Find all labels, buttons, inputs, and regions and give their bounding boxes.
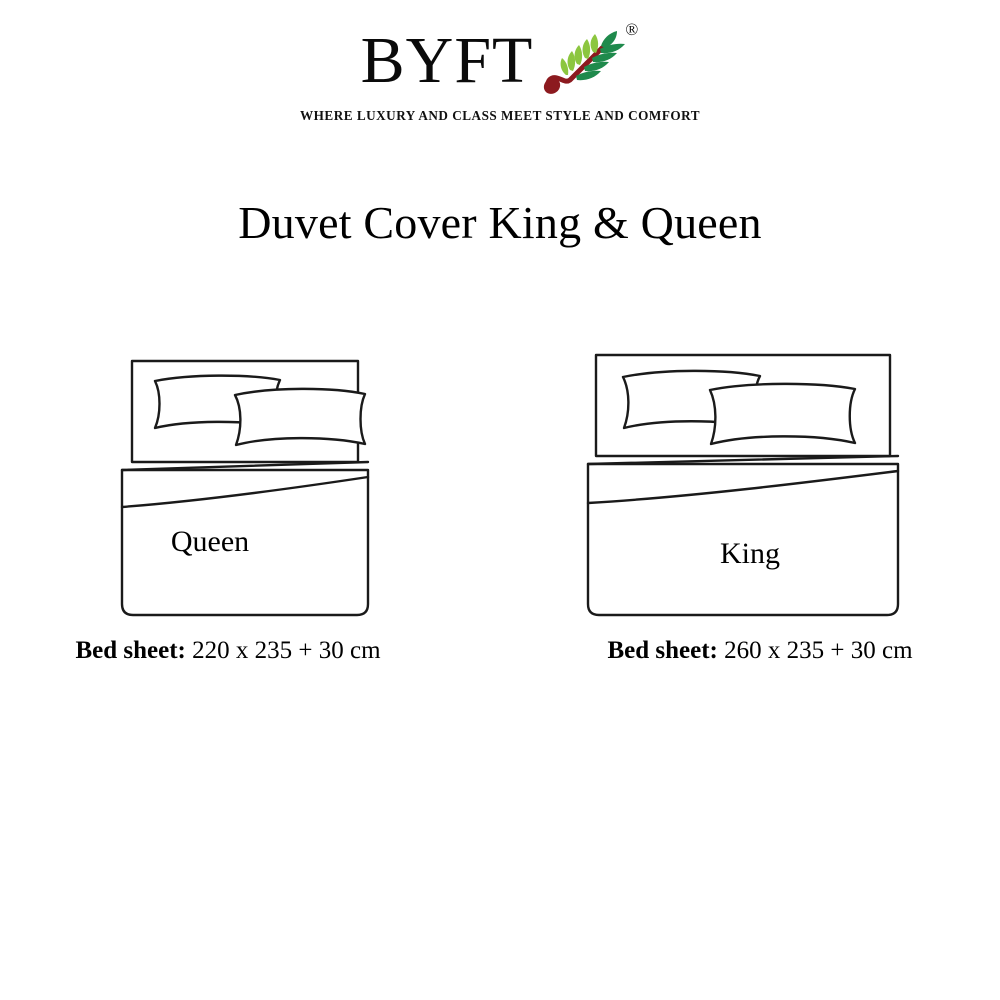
registered-trademark-icon: ®	[625, 20, 638, 40]
bed-caption-value-king: 260 x 235 + 30 cm	[724, 637, 912, 664]
bed-caption-value-queen: 220 x 235 + 30 cm	[192, 637, 380, 664]
bed-diagram-king: King	[540, 340, 960, 628]
bed-caption-key-king: Bed sheet:	[607, 637, 717, 664]
bed-diagram-queen: Queen	[40, 340, 460, 628]
brand-header: BYFT ® WHERE LUXURY AND CLAS	[0, 24, 1000, 124]
bed-size-label-king: King	[540, 537, 960, 571]
brand-lockup: BYFT ®	[361, 24, 640, 98]
brand-wordmark: BYFT	[361, 30, 534, 93]
duvet-fold-top-line	[588, 456, 898, 464]
pillow-right	[235, 389, 365, 445]
bed-caption-key-queen: Bed sheet:	[75, 637, 185, 664]
bed-caption-queen: Bed sheet: 220 x 235 + 30 cm	[18, 637, 438, 665]
page-title: Duvet Cover King & Queen	[0, 196, 1000, 249]
pillow-right	[710, 384, 855, 444]
bed-caption-king: Bed sheet: 260 x 235 + 30 cm	[550, 637, 970, 665]
bed-size-label-queen: Queen	[40, 525, 380, 559]
brand-tagline: WHERE LUXURY AND CLASS MEET STYLE AND CO…	[0, 108, 1000, 124]
bed-panel-king: King Bed sheet: 260 x 235 + 30 cm	[540, 340, 960, 628]
duvet-fold-top-line	[122, 462, 368, 470]
bed-comparison-section: Queen Bed sheet: 220 x 235 + 30 cm	[0, 340, 1000, 690]
wheat-leaf-icon: ®	[539, 26, 639, 100]
bed-panel-queen: Queen Bed sheet: 220 x 235 + 30 cm	[40, 340, 460, 628]
